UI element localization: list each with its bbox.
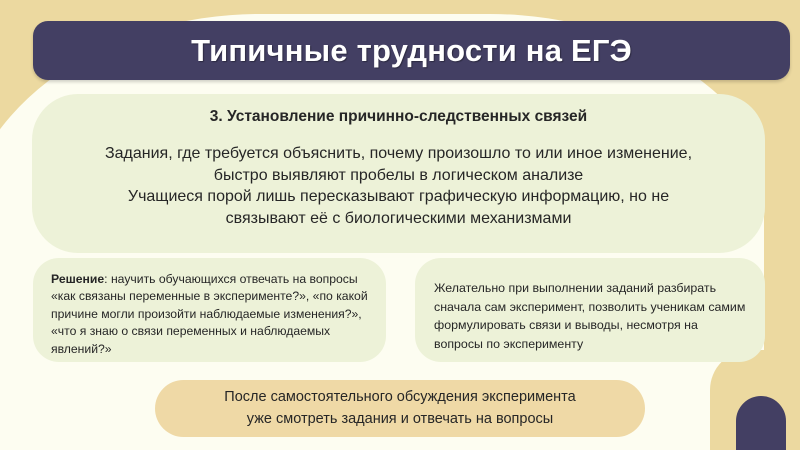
solution-note-lead: Решение bbox=[51, 272, 104, 286]
main-content-panel: 3. Установление причинно-следственных св… bbox=[32, 94, 765, 253]
page-title: Типичные трудности на ЕГЭ bbox=[191, 33, 632, 69]
panel-body-line: связывают её с биологическими механизмам… bbox=[49, 208, 749, 230]
recommendation-note-box: Желательно при выполнении заданий разбир… bbox=[415, 258, 765, 362]
decorative-arch-shape bbox=[736, 396, 786, 450]
solution-note-box: Решение: научить обучающихся отвечать на… bbox=[33, 258, 386, 362]
panel-body: Задания, где требуется объяснить, почему… bbox=[49, 143, 749, 229]
panel-body-line: Задания, где требуется объяснить, почему… bbox=[49, 143, 749, 165]
slide-canvas: Типичные трудности на ЕГЭ 3. Установлени… bbox=[0, 0, 800, 450]
solution-note-text: Решение: научить обучающихся отвечать на… bbox=[51, 271, 372, 358]
panel-heading: 3. Установление причинно-следственных св… bbox=[210, 108, 587, 126]
conclusion-pill: После самостоятельного обсуждения экспер… bbox=[155, 380, 645, 437]
panel-body-line: быстро выявляют пробелы в логическом ана… bbox=[49, 165, 749, 187]
panel-body-line: Учащиеся порой лишь пересказывают графич… bbox=[49, 186, 749, 208]
slide-title-bar: Типичные трудности на ЕГЭ bbox=[33, 21, 790, 80]
conclusion-line-2: уже смотреть задания и отвечать на вопро… bbox=[247, 409, 553, 430]
recommendation-note-text: Желательно при выполнении заданий разбир… bbox=[434, 279, 749, 353]
conclusion-line-1: После самостоятельного обсуждения экспер… bbox=[224, 387, 575, 408]
